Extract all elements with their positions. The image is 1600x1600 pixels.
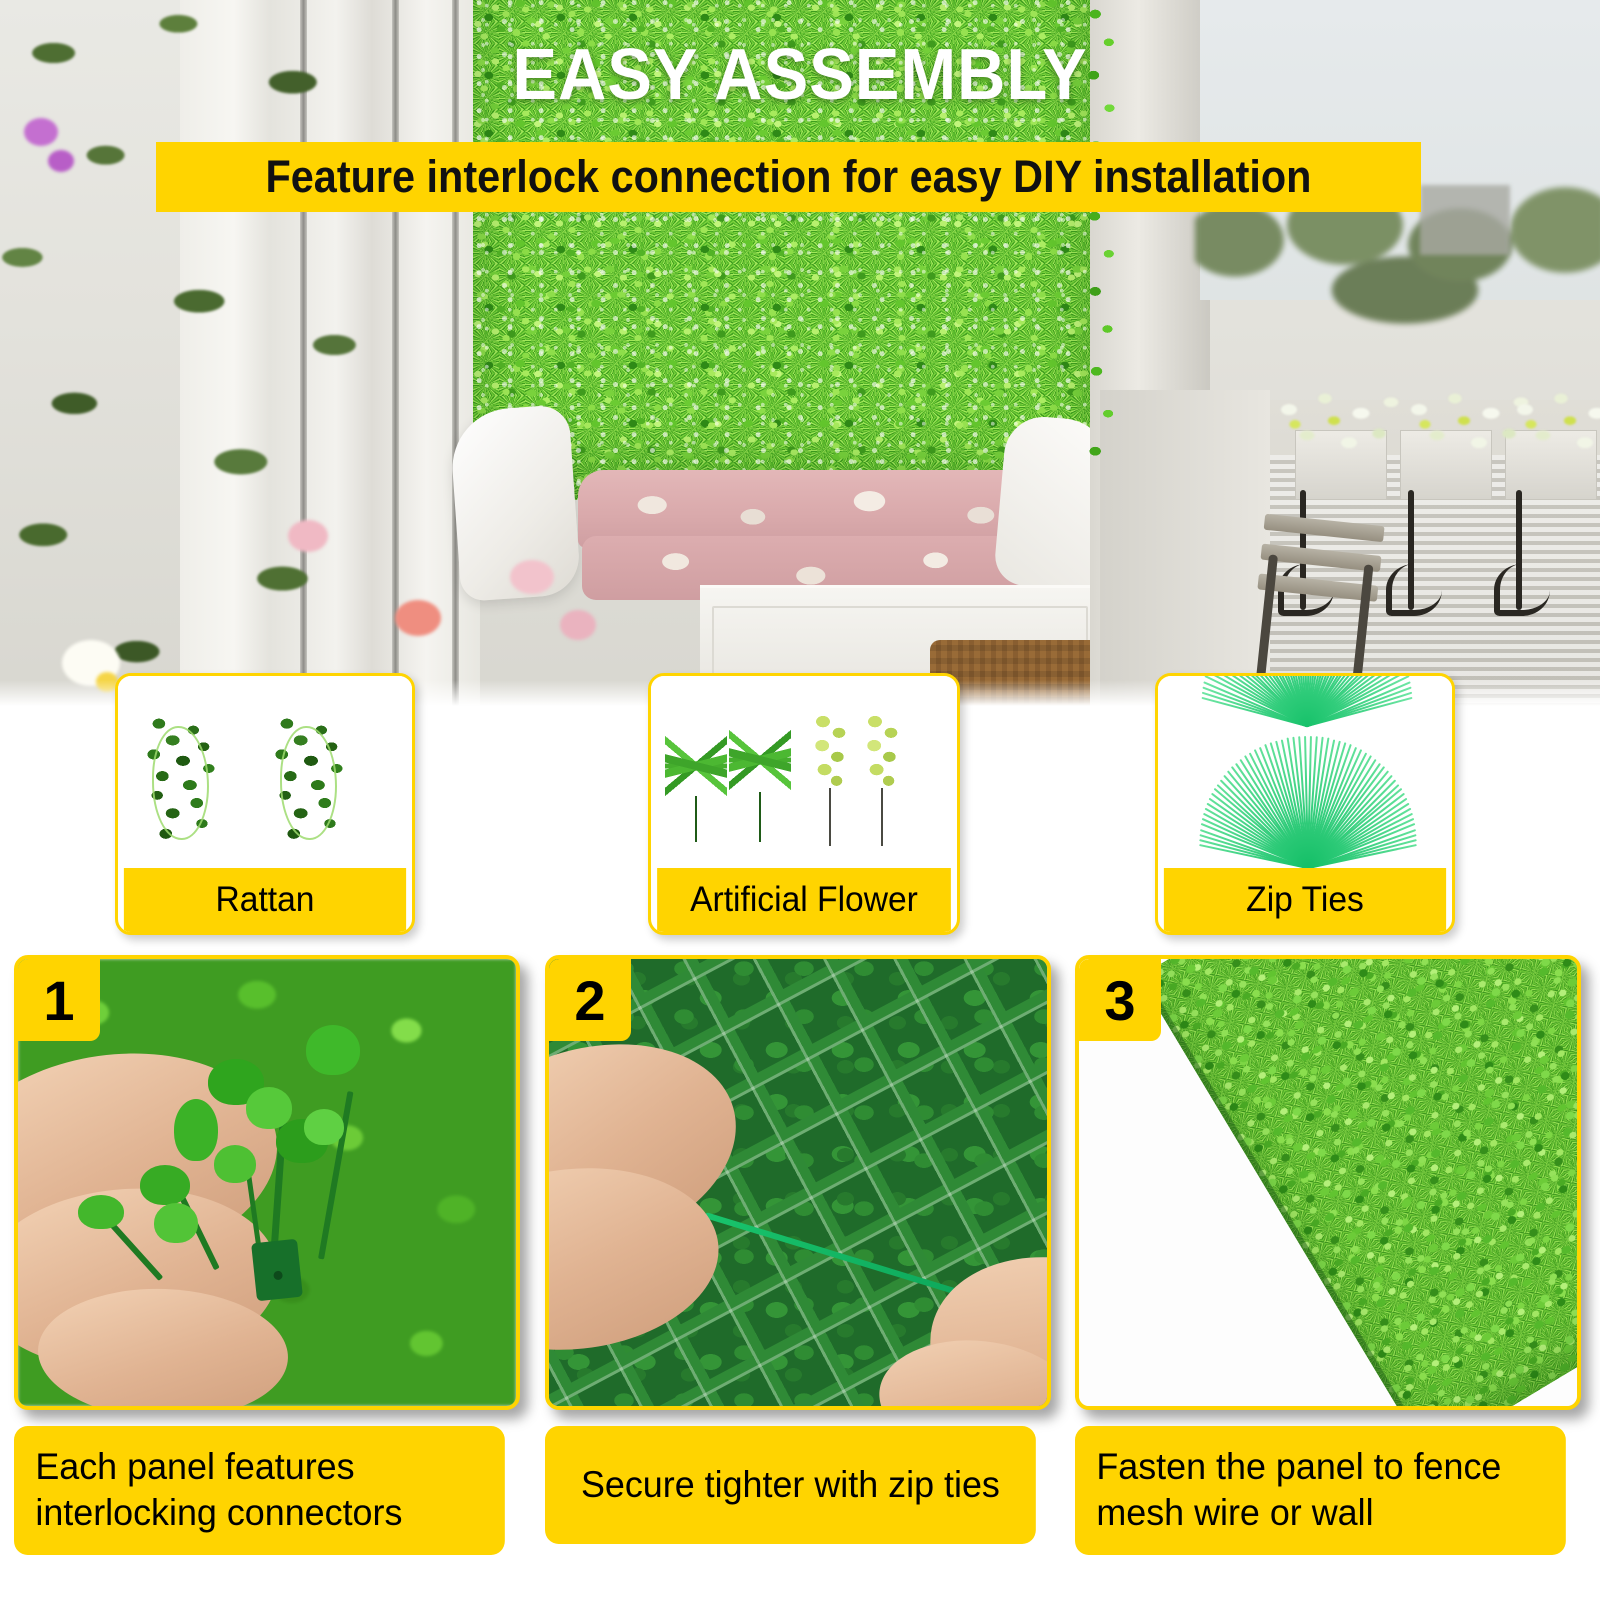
leaf (306, 1025, 360, 1075)
step-number-badge: 1 (18, 959, 100, 1041)
flower-head-icon (863, 712, 903, 792)
page-title: EASY ASSEMBLY (56, 34, 1544, 116)
step-1-photo: 1 (14, 955, 520, 1410)
step-2-photo: 2 (545, 955, 1051, 1410)
leaf (214, 1145, 256, 1183)
subtitle-text: Feature interlock connection for easy DI… (265, 151, 1311, 203)
white-flowering-plant (1498, 382, 1600, 474)
flower-stem (881, 788, 883, 846)
accessory-card-label: Artificial Flower (657, 868, 951, 932)
balcony-parapet (1100, 390, 1270, 706)
iron-planter-bracket (1408, 490, 1414, 610)
distant-building (1420, 185, 1510, 255)
pink-flower (288, 520, 328, 552)
ziptie-fan-icon (1188, 676, 1424, 726)
rattan-thumbnail (118, 676, 412, 868)
pink-flower (395, 600, 441, 636)
accessory-card-row: Rattan Artificial Flower Zip Ties (0, 673, 1600, 935)
leaf (174, 1099, 218, 1161)
fern-stem (695, 796, 697, 842)
ivy-vine-icon (268, 716, 354, 844)
pink-flower (560, 610, 596, 640)
step-1: 1 Each panel features interlocking conne… (14, 955, 520, 1555)
step-1-caption: Each panel features interlocking connect… (14, 1426, 505, 1555)
step-3-caption: Fasten the panel to fence mesh wire or w… (1075, 1426, 1566, 1555)
step-2: 2 Secure tighter with zip ties (545, 955, 1051, 1544)
leaf (140, 1165, 190, 1205)
fern-flower-icon (729, 716, 791, 804)
accessory-card-label: Zip Ties (1164, 868, 1446, 932)
accessory-card-artificial-flower[interactable]: Artificial Flower (648, 673, 960, 935)
leaf (154, 1203, 198, 1243)
purple-flower (24, 118, 58, 146)
accessory-card-label: Rattan (124, 868, 406, 932)
fern-stem (759, 792, 761, 842)
pink-flower (510, 560, 554, 594)
subtitle-banner: Feature interlock connection for easy DI… (156, 142, 1421, 212)
flower-head-icon (811, 712, 851, 792)
ivy-vine-icon (140, 716, 226, 844)
step-number-badge: 3 (1079, 959, 1161, 1041)
leaf (304, 1109, 344, 1145)
step-3: 3 Fasten the panel to fence mesh wire or… (1075, 955, 1581, 1555)
accessory-card-rattan[interactable]: Rattan (115, 673, 415, 935)
accessory-card-zip-ties[interactable]: Zip Ties (1155, 673, 1455, 935)
step-3-photo: 3 (1075, 955, 1581, 1410)
ziptie-fan-icon (1182, 750, 1432, 868)
step-2-caption: Secure tighter with zip ties (545, 1426, 1036, 1544)
artificial-flower-thumbnail (651, 676, 957, 868)
purple-flower (48, 150, 74, 172)
iron-planter-bracket (1516, 490, 1522, 610)
zip-ties-thumbnail (1158, 676, 1452, 868)
step-number-badge: 2 (549, 959, 631, 1041)
white-flowering-plant (1262, 382, 1412, 474)
interlocking-connector (251, 1239, 303, 1301)
leaf (78, 1195, 124, 1229)
flower-stem (829, 788, 831, 846)
step-panel-row: 1 Each panel features interlocking conne… (0, 955, 1600, 1600)
